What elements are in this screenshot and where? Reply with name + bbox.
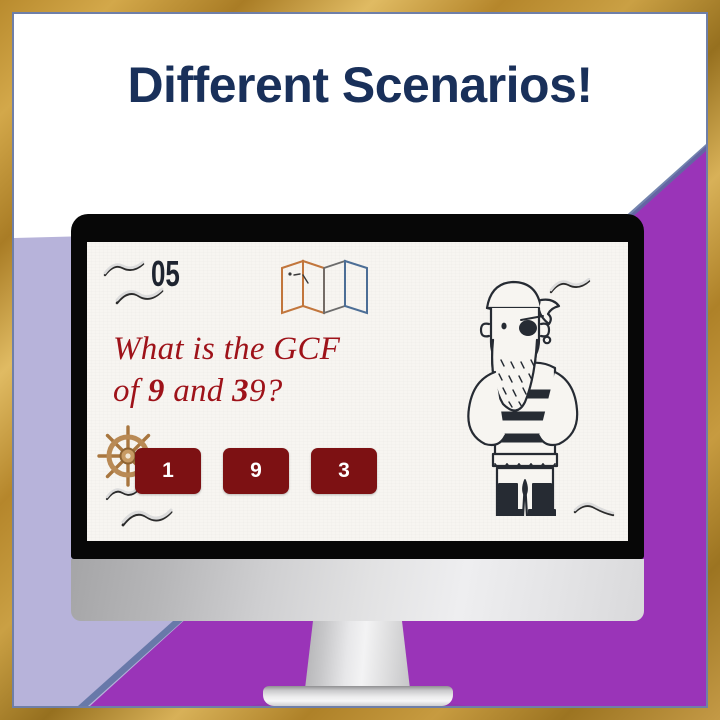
desktop-monitor: 05 bbox=[71, 214, 644, 621]
question-line-2-prefix: of bbox=[113, 373, 148, 409]
answer-button-2[interactable]: 9 bbox=[223, 448, 289, 494]
question-bold-3: 3 bbox=[232, 373, 249, 409]
poster-inner-canvas: Different Scenarios! bbox=[14, 14, 706, 706]
page-title-text: Different Scenarios! bbox=[127, 58, 592, 113]
slide-number: 05 bbox=[151, 256, 180, 292]
question-bold-9: 9 bbox=[148, 373, 165, 409]
question-text: What is the GCF of 9 and 39? bbox=[113, 328, 443, 412]
flying-bird-doodle-icon bbox=[573, 500, 615, 518]
monitor-screen: 05 bbox=[87, 242, 628, 541]
folded-map-icon bbox=[279, 258, 371, 316]
answer-button-1[interactable]: 1 bbox=[135, 448, 201, 494]
pirate-illustration bbox=[449, 268, 579, 516]
answer-button-3[interactable]: 3 bbox=[311, 448, 377, 494]
question-line-2-mid: and bbox=[165, 373, 233, 409]
question-line-1: What is the GCF bbox=[113, 331, 340, 367]
flying-bird-doodle-icon bbox=[121, 506, 173, 528]
monitor-stand-neck bbox=[305, 621, 411, 693]
monitor-stand-base bbox=[263, 686, 453, 706]
poster-canvas: Different Scenarios! bbox=[0, 0, 720, 720]
monitor-bezel: 05 bbox=[71, 214, 644, 559]
flying-bird-doodle-icon bbox=[103, 260, 145, 278]
monitor-chin bbox=[71, 559, 644, 621]
page-title: Different Scenarios! bbox=[14, 58, 706, 113]
answer-options: 1 9 3 bbox=[135, 448, 377, 494]
question-line-2-suffix: 9? bbox=[249, 373, 283, 409]
